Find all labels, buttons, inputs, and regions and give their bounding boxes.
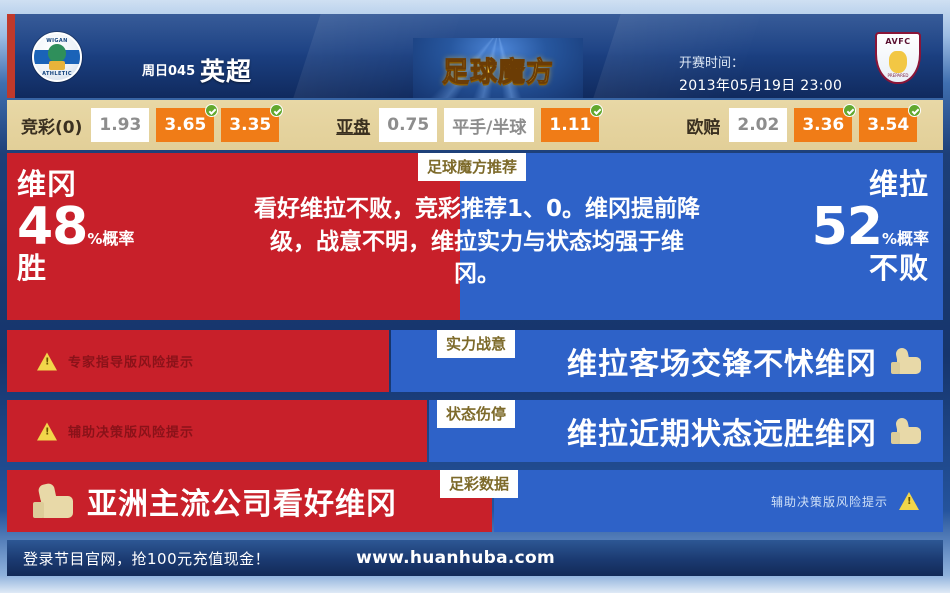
odds-cell[interactable]: 1.11 xyxy=(541,108,599,142)
away-probability-block: 维拉 52 % 概率 不败 xyxy=(812,169,929,284)
crest-crown-icon xyxy=(49,61,65,70)
row-message-text: 维拉客场交锋不怵维冈 xyxy=(567,339,877,383)
thumb-tip xyxy=(895,347,909,361)
row-message-strength: 维拉客场交锋不怵维冈 xyxy=(567,339,921,383)
crest-top-text: WIGAN xyxy=(34,38,80,44)
expert-risk-warning: 专家指导版风险提示 xyxy=(37,352,194,371)
odds-value: 3.65 xyxy=(164,115,206,135)
odds-cell[interactable]: 1.93 xyxy=(91,108,149,142)
row-tag-strength: 实力战意 xyxy=(437,330,515,358)
crest-tree-icon xyxy=(48,44,66,62)
thumb-finger xyxy=(891,432,900,444)
away-probability-number: 52 xyxy=(812,201,882,253)
odds-group-label: 竞彩(0) xyxy=(21,113,82,138)
row-tag-form: 状态伤停 xyxy=(437,400,515,428)
kickoff-label: 开赛时间： xyxy=(679,52,744,71)
warning-text: 辅助决策版风险提示 xyxy=(68,422,194,441)
crest-lion-icon xyxy=(889,51,907,73)
warning-text: 辅助决策版风险提示 xyxy=(771,493,888,510)
away-probability-word: 概率 xyxy=(897,231,929,247)
odds-value: 平手/半球 xyxy=(452,113,526,138)
home-outcome-word: 胜 xyxy=(17,253,134,283)
brand-logo: 足球魔方 xyxy=(413,38,583,98)
odds-bar: 竞彩(0) 1.93 3.65 3.35 亚盘 0.75 平手/半球 1.11 … xyxy=(7,100,943,150)
assist-risk-warning: 辅助决策版风险提示 xyxy=(37,422,194,441)
home-team-crest: WIGAN ATHLETIC xyxy=(32,32,82,82)
thumb-finger xyxy=(33,502,44,518)
crest-bottom-text: ATHLETIC xyxy=(34,71,80,77)
warning-triangle-icon xyxy=(37,422,57,440)
wigan-crest-icon: WIGAN ATHLETIC xyxy=(32,32,82,82)
footer-url[interactable]: www.huanhuba.com xyxy=(356,548,555,568)
aston-villa-crest-icon: AVFC PREPARED xyxy=(875,32,921,84)
thumbs-up-icon xyxy=(891,418,921,444)
insight-row-strength: 专家指导版风险提示 实力战意 维拉客场交锋不怵维冈 xyxy=(7,330,943,392)
insight-row-form: 辅助决策版风险提示 状态伤停 维拉近期状态远胜维冈 xyxy=(7,400,943,462)
away-team-crest: AVFC PREPARED xyxy=(873,32,923,82)
recommendation-summary: 看好维拉不败，竞彩推荐1、0。维冈提前降级，战意不明，维拉实力与状态均强于维冈。 xyxy=(252,193,702,291)
odds-group-label: 欧赔 xyxy=(686,113,720,138)
home-probability-block: 维冈 48 % 概率 胜 xyxy=(17,169,134,284)
brand-logo-text: 足球魔方 xyxy=(442,50,554,89)
thumb-tip xyxy=(38,483,57,502)
thumb-finger xyxy=(891,362,900,374)
assist-risk-warning-right: 辅助决策版风险提示 xyxy=(771,492,919,510)
footer-promo-text: 登录节目官网，抢100元充值现金！ xyxy=(23,548,270,569)
odds-value: 3.36 xyxy=(802,115,844,135)
odds-cell[interactable]: 3.65 xyxy=(156,108,214,142)
away-outcome-word: 不败 xyxy=(812,253,929,283)
header-accent-bar xyxy=(7,14,15,98)
away-probability-row: 52 % 概率 xyxy=(812,201,929,253)
home-probability-number: 48 xyxy=(17,201,87,253)
check-icon xyxy=(270,104,283,117)
odds-value: 3.35 xyxy=(229,115,271,135)
lottery-headline: 亚洲主流公司看好维冈 xyxy=(33,479,397,523)
odds-cell[interactable]: 0.75 xyxy=(379,108,437,142)
broadcast-graphic-root: WIGAN ATHLETIC 周日045 英超 足球魔方 开赛时间： 2013年… xyxy=(0,0,950,593)
odds-cell[interactable]: 平手/半球 xyxy=(444,108,534,142)
odds-cell[interactable]: 3.35 xyxy=(221,108,279,142)
thumbs-up-icon xyxy=(891,348,921,374)
odds-group-label: 亚盘 xyxy=(336,113,370,138)
check-icon xyxy=(590,104,603,117)
away-team-name: 维拉 xyxy=(812,169,929,199)
row-message-text: 维拉近期状态远胜维冈 xyxy=(567,409,877,453)
odds-cell[interactable]: 2.02 xyxy=(729,108,787,142)
odds-cell[interactable]: 3.54 xyxy=(859,108,917,142)
warning-triangle-icon xyxy=(37,352,57,370)
odds-value: 1.93 xyxy=(99,115,141,135)
odds-group-oupei: 欧赔 2.02 3.36 3.54 xyxy=(672,108,924,142)
row-tag-lottery: 足彩数据 xyxy=(440,470,518,498)
crest-top-text: AVFC xyxy=(877,37,919,46)
insight-row-lottery-data: 亚洲主流公司看好维冈 足彩数据 辅助决策版风险提示 xyxy=(7,470,943,532)
warning-text: 专家指导版风险提示 xyxy=(68,352,194,371)
warning-triangle-icon xyxy=(899,492,919,510)
odds-value: 1.11 xyxy=(549,115,591,135)
lottery-headline-text: 亚洲主流公司看好维冈 xyxy=(87,479,397,523)
odds-group-yapan: 亚盘 0.75 平手/半球 1.11 xyxy=(322,108,606,142)
home-team-name: 维冈 xyxy=(17,169,134,199)
match-number: 周日045 xyxy=(142,60,195,79)
thumb-tip xyxy=(895,417,909,431)
odds-cell[interactable]: 3.36 xyxy=(794,108,852,142)
check-icon xyxy=(843,104,856,117)
away-percent-sign: % xyxy=(882,232,897,247)
odds-value: 2.02 xyxy=(737,115,779,135)
probability-panel: 维冈 48 % 概率 胜 维拉 52 % 概率 不败 足球魔方推荐 看好维拉不败… xyxy=(7,153,943,320)
crest-bottom-text: PREPARED xyxy=(877,73,919,78)
odds-group-jingcai: 竞彩(0) 1.93 3.65 3.35 xyxy=(7,108,286,142)
match-header: WIGAN ATHLETIC 周日045 英超 足球魔方 开赛时间： 2013年… xyxy=(7,14,943,98)
check-icon xyxy=(908,104,921,117)
home-probability-row: 48 % 概率 xyxy=(17,201,134,253)
home-percent-sign: % xyxy=(87,232,102,247)
thumbs-up-icon xyxy=(33,484,73,518)
kickoff-time: 2013年05月19日 23:00 xyxy=(679,75,842,95)
home-probability-word: 概率 xyxy=(102,231,134,247)
odds-value: 3.54 xyxy=(867,115,909,135)
row-message-form: 维拉近期状态远胜维冈 xyxy=(567,409,921,453)
odds-value: 0.75 xyxy=(387,115,429,135)
league-name: 英超 xyxy=(200,52,252,88)
check-icon xyxy=(205,104,218,117)
footer-bar: 登录节目官网，抢100元充值现金！ www.huanhuba.com xyxy=(7,540,943,576)
recommendation-tag: 足球魔方推荐 xyxy=(418,153,526,181)
